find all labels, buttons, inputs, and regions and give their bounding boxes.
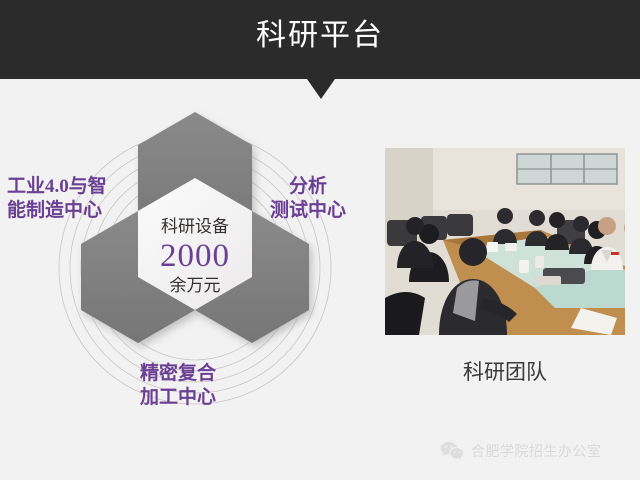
photo-block — [385, 148, 625, 335]
center-stat-unit: 余万元 — [140, 274, 250, 298]
photo-caption: 科研团队 — [385, 358, 625, 386]
page-title: 科研平台 — [0, 14, 640, 58]
infographic: 科研设备 2000 余万元 工业4.0与智 能制造中心 分析 测试中心 精密复合… — [0, 100, 380, 430]
header-pointer-triangle-icon — [307, 79, 335, 99]
center-stat-number: 2000 — [140, 238, 250, 274]
hex-label-left-line2: 能制造中心 — [7, 199, 107, 223]
hex-label-bottom: 精密复合 加工中心 — [140, 362, 216, 410]
hex-label-left: 工业4.0与智 能制造中心 — [7, 175, 107, 223]
center-stat-label: 科研设备 — [140, 216, 250, 238]
hex-label-left-line1: 工业4.0与智 — [7, 175, 107, 199]
hex-label-right-line2: 测试中心 — [270, 199, 346, 223]
hex-label-bottom-line1: 精密复合 — [140, 362, 216, 386]
footer-account: 合肥学院招生办公室 — [440, 438, 630, 464]
hex-label-bottom-line2: 加工中心 — [140, 386, 216, 410]
slide-root: 科研平台 — [0, 0, 640, 480]
team-photo — [385, 148, 625, 335]
hex-label-right-line1: 分析 — [270, 175, 346, 199]
center-stat: 科研设备 2000 余万元 — [140, 216, 250, 298]
footer-account-name: 合肥学院招生办公室 — [471, 441, 602, 461]
hex-label-right: 分析 测试中心 — [270, 175, 346, 223]
wechat-icon — [440, 441, 464, 461]
